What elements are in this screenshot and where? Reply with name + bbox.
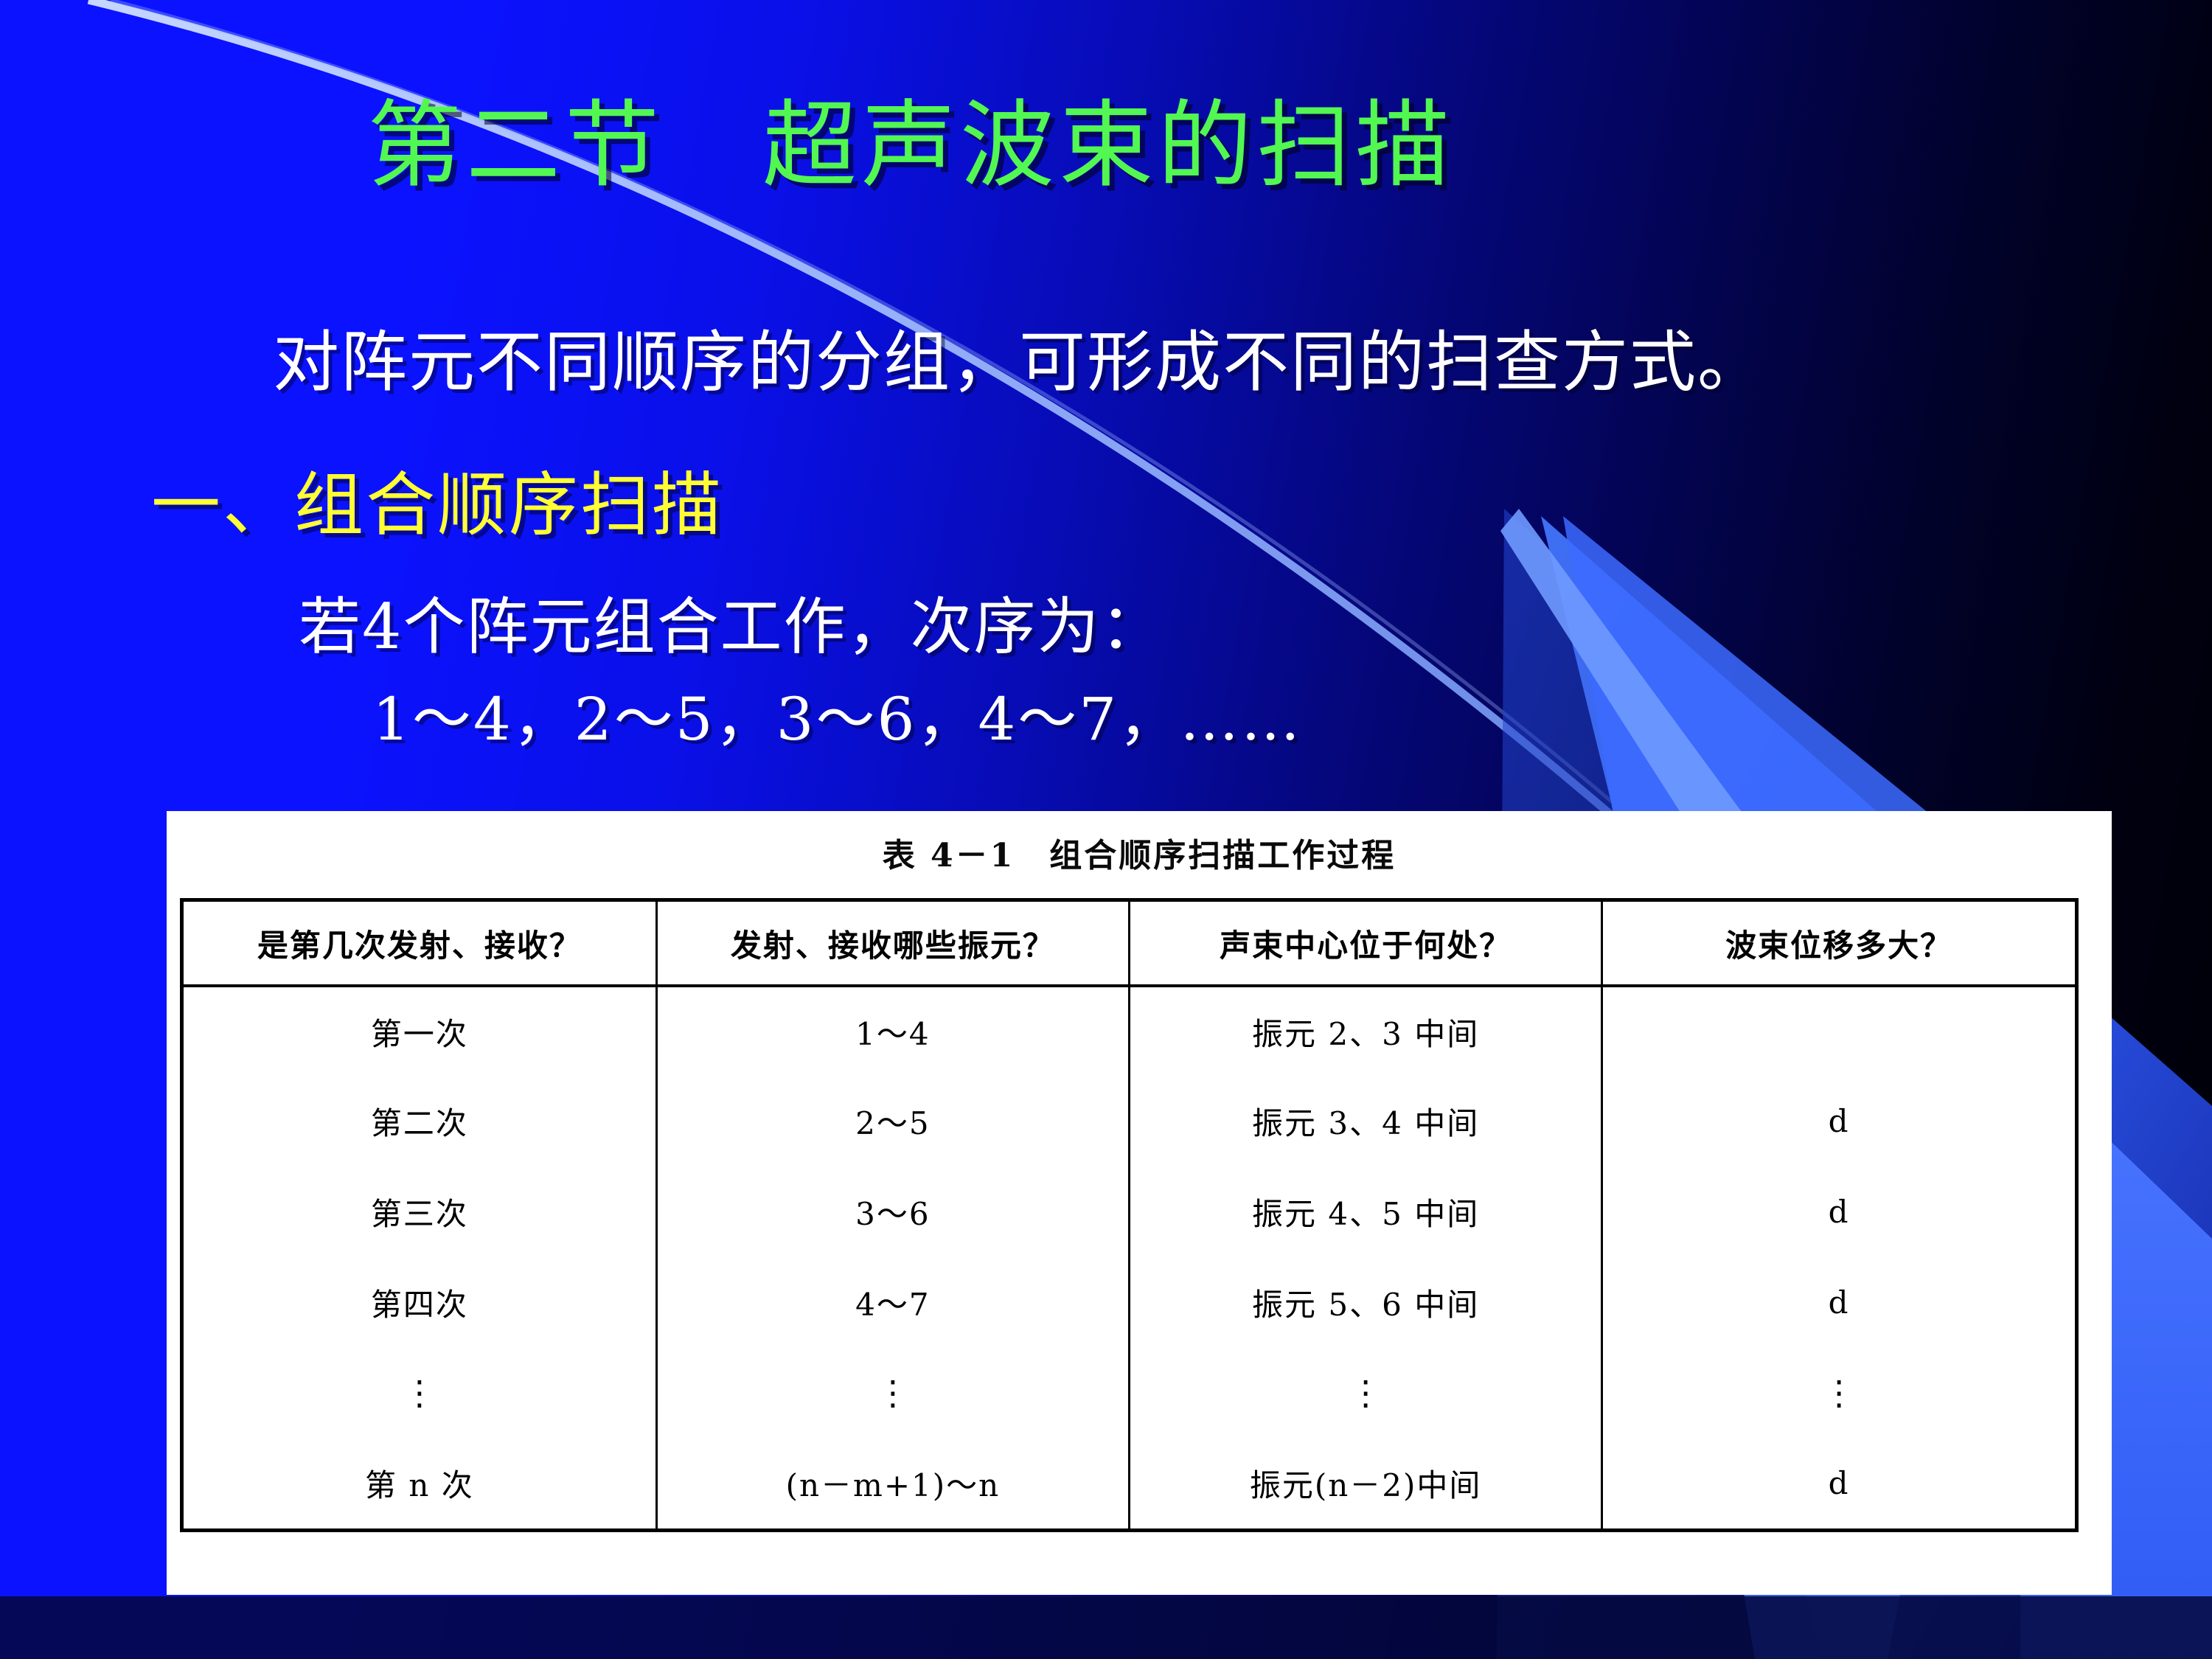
cell-beam-shift: d	[1602, 1166, 2075, 1257]
table-row: 第 n 次 (n－m+1)～n 振元(n－2)中间 d	[184, 1438, 2075, 1528]
col-header-elements: 发射、接收哪些振元？	[656, 902, 1129, 986]
cell-elements: 1～4	[656, 986, 1129, 1077]
cell-beam-shift: ⋮	[1602, 1348, 2075, 1439]
table-row: 第二次 2～5 振元 3、4 中间 d	[184, 1077, 2075, 1167]
cell-sequence: 第三次	[184, 1166, 656, 1257]
table-head: 是第几次发射、接收？ 发射、接收哪些振元？ 声束中心位于何处？ 波束位移多大？	[184, 902, 2075, 986]
cell-beam-center: 振元 4、5 中间	[1130, 1166, 1602, 1257]
cell-beam-center: 振元 5、6 中间	[1130, 1257, 1602, 1348]
cell-elements: 4～7	[656, 1257, 1129, 1348]
col-header-sequence: 是第几次发射、接收？	[184, 902, 656, 986]
cell-elements: 3～6	[656, 1166, 1129, 1257]
cell-beam-center: ⋮	[1130, 1348, 1602, 1439]
cell-beam-center: 振元 3、4 中间	[1130, 1077, 1602, 1167]
cell-elements: ⋮	[656, 1348, 1129, 1439]
slide: 第二节 超声波束的扫描 对阵元不同顺序的分组，可形成不同的扫查方式。 一、组合顺…	[0, 0, 2212, 1659]
cell-beam-shift: d	[1602, 1438, 2075, 1528]
cell-sequence: 第 n 次	[184, 1438, 656, 1528]
slide-title: 第二节 超声波束的扫描	[0, 94, 1821, 198]
table-panel: 表 4－1 组合顺序扫描工作过程 是第几次发射、接收？ 发射、接收哪些振元？ 声…	[167, 811, 2112, 1595]
bottom-dark-band	[0, 1596, 2212, 1659]
col-header-beam-shift: 波束位移多大？	[1602, 902, 2075, 986]
cell-beam-shift: d	[1602, 1077, 2075, 1167]
table-caption: 表 4－1 组合顺序扫描工作过程	[167, 829, 2112, 876]
cell-elements: (n－m+1)～n	[656, 1438, 1129, 1528]
section-heading-one: 一、组合顺序扫描	[151, 466, 723, 546]
col-header-beam-center: 声束中心位于何处？	[1130, 902, 1602, 986]
table-header-row: 是第几次发射、接收？ 发射、接收哪些振元？ 声束中心位于何处？ 波束位移多大？	[184, 902, 2075, 986]
cell-sequence: ⋮	[184, 1348, 656, 1439]
table-row-ellipsis: ⋮ ⋮ ⋮ ⋮	[184, 1348, 2075, 1439]
table-border-box: 是第几次发射、接收？ 发射、接收哪些振元？ 声束中心位于何处？ 波束位移多大？ …	[180, 898, 2079, 1532]
sub-line-sequence-intro: 若4个阵元组合工作，次序为：	[299, 591, 1164, 663]
table-row: 第三次 3～6 振元 4、5 中间 d	[184, 1166, 2075, 1257]
cell-beam-shift: d	[1602, 1257, 2075, 1348]
cell-sequence: 第二次	[184, 1077, 656, 1167]
table-row: 第四次 4～7 振元 5、6 中间 d	[184, 1257, 2075, 1348]
cell-elements: 2～5	[656, 1077, 1129, 1167]
scan-process-table: 是第几次发射、接收？ 发射、接收哪些振元？ 声束中心位于何处？ 波束位移多大？ …	[184, 902, 2075, 1528]
lead-paragraph: 对阵元不同顺序的分组，可形成不同的扫查方式。	[273, 324, 1765, 401]
table-row: 第一次 1～4 振元 2、3 中间	[184, 986, 2075, 1077]
cell-sequence: 第一次	[184, 986, 656, 1077]
cell-sequence: 第四次	[184, 1257, 656, 1348]
cell-beam-center: 振元 2、3 中间	[1130, 986, 1602, 1077]
cell-beam-shift	[1602, 986, 2075, 1077]
sub-line-sequence-values: 1～4，2～5，3～6，4～7，……	[372, 686, 1302, 754]
table-body: 第一次 1～4 振元 2、3 中间 第二次 2～5 振元 3、4 中间 d 第三…	[184, 986, 2075, 1528]
cell-beam-center: 振元(n－2)中间	[1130, 1438, 1602, 1528]
